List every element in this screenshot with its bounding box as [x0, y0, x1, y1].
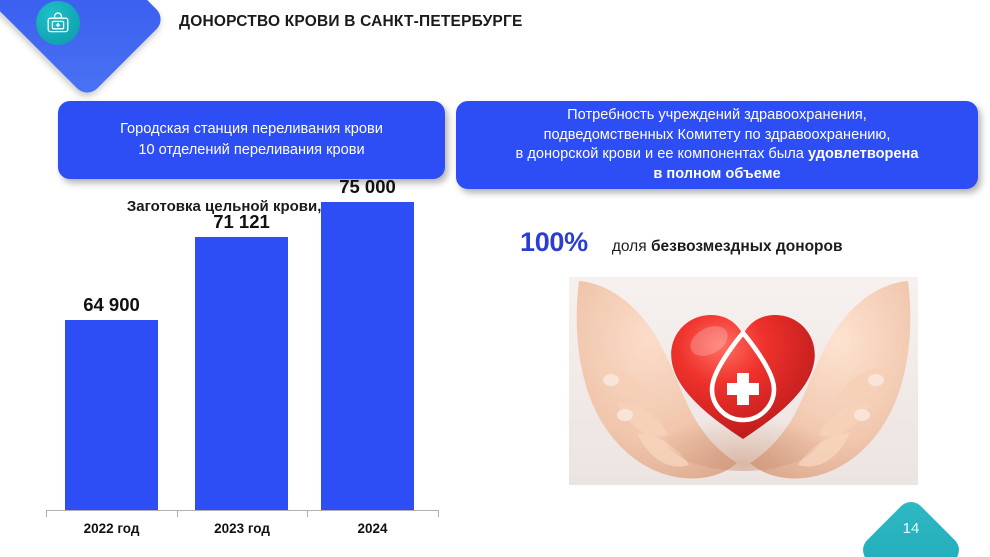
header-accent-shape — [0, 0, 166, 98]
axis-tick-3 — [438, 510, 439, 517]
category-label-2022: 2022 год — [46, 521, 177, 536]
page-number: 14 — [873, 520, 949, 537]
bar-label-2024: 75 000 — [321, 176, 414, 198]
stat-donors: 100% доля безвозмездных доноров — [520, 227, 843, 258]
callout-right-line-2: подведомственных Комитету по здравоохран… — [544, 126, 891, 146]
stat-description: доля безвозмездных доноров — [612, 238, 843, 256]
donation-photo — [569, 277, 918, 485]
callout-right-line-3: в донорской крови и ее компонентах была … — [516, 145, 919, 165]
callout-left-line-2: 10 отделений переливания крови — [138, 140, 364, 161]
bar-label-2023: 71 121 — [195, 211, 288, 233]
page-title: ДОНОРСТВО КРОВИ В САНКТ-ПЕТЕРБУРГЕ — [179, 13, 523, 31]
medical-bag-icon — [45, 10, 71, 36]
bar-2023 — [195, 237, 288, 510]
callout-blood-station: Городская станция переливания крови 10 о… — [58, 101, 445, 179]
category-label-2024: 2024 — [307, 521, 438, 536]
callout-left-line-1: Городская станция переливания крови — [120, 119, 383, 140]
category-label-2023: 2023 год — [177, 521, 307, 536]
slide: ДОНОРСТВО КРОВИ В САНКТ-ПЕТЕРБУРГЕ Город… — [0, 0, 990, 557]
bar-2022 — [65, 320, 158, 510]
logo-badge — [36, 1, 80, 45]
chart-plot-area: 64 900 71 121 75 000 — [40, 224, 460, 510]
callout-demand-satisfied: Потребность учреждений здравоохранения, … — [456, 101, 978, 189]
chart-x-axis — [46, 510, 439, 511]
axis-tick-2 — [307, 510, 308, 517]
bar-chart: Заготовка цельной крови, л 64 900 71 121… — [40, 198, 460, 548]
axis-tick-1 — [177, 510, 178, 517]
callout-right-line-1: Потребность учреждений здравоохранения, — [567, 106, 867, 126]
axis-tick-0 — [46, 510, 47, 517]
bar-label-2022: 64 900 — [65, 294, 158, 316]
callout-right-line-4: в полном объеме — [653, 165, 780, 185]
bar-2024 — [321, 202, 414, 510]
stat-value: 100% — [520, 227, 588, 258]
